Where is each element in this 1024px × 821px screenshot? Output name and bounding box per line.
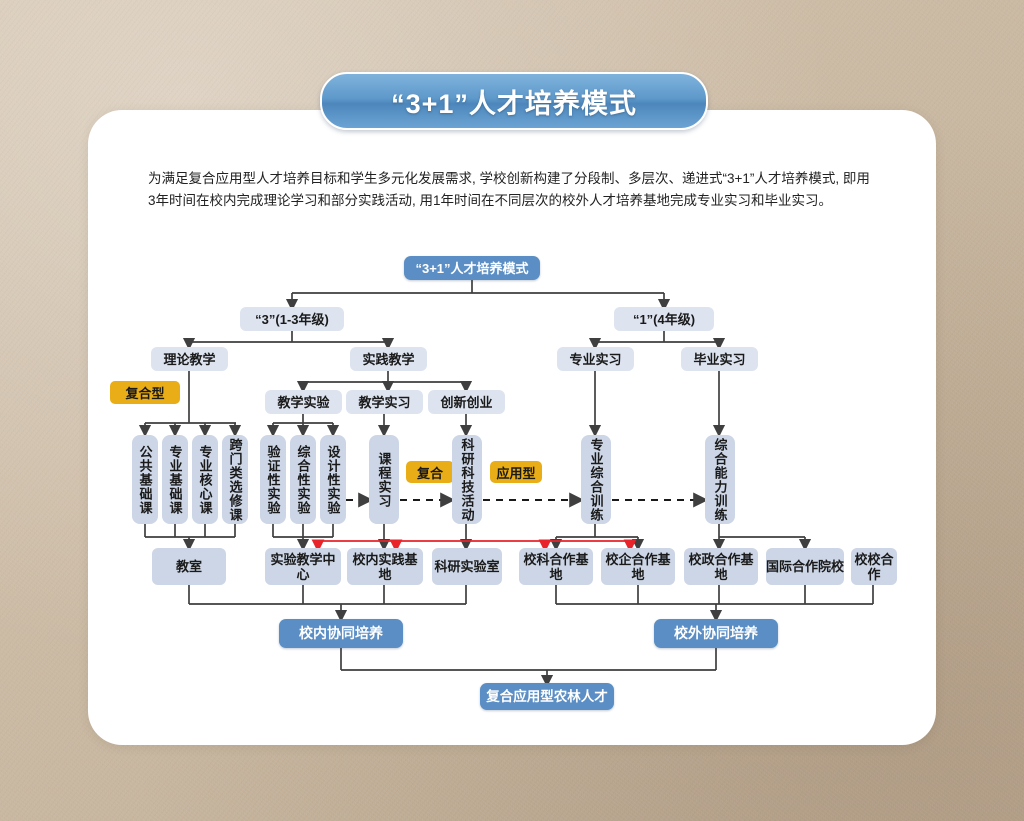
node-venue-classroom-label: 教室 <box>176 559 202 574</box>
node-column-major-comprehensive-training-label: 专业综合训练 <box>588 438 605 522</box>
node-venue-research-lab[interactable]: 科研实验室 <box>432 548 502 585</box>
node-column-verification-experiment-label: 验证性实验 <box>265 445 282 515</box>
node-venue-school-government-base-label: 校政合作基地 <box>684 552 758 582</box>
node-teaching-practicum-label: 教学实习 <box>358 395 410 410</box>
node-summary-external-label: 校外协同培养 <box>674 626 758 641</box>
node-practice-teaching[interactable]: 实践教学 <box>350 347 427 371</box>
node-venue-classroom[interactable]: 教室 <box>152 548 226 585</box>
badge-composite-type-label: 复合型 <box>125 383 164 402</box>
node-venue-international-institutions-label: 国际合作院校 <box>766 559 844 574</box>
node-column-course-practicum[interactable]: 课程实习 <box>369 435 399 524</box>
node-column-major-core[interactable]: 专业核心课 <box>192 435 218 524</box>
node-venue-school-school-cooperation[interactable]: 校校合作 <box>851 548 897 585</box>
node-column-comprehensive-experiment-label: 综合性实验 <box>295 445 312 515</box>
node-venue-school-school-cooperation-label: 校校合作 <box>851 552 897 582</box>
node-venue-school-enterprise-base-label: 校企合作基地 <box>601 552 675 582</box>
node-column-comprehensive-experiment[interactable]: 综合性实验 <box>290 435 316 524</box>
node-venue-school-government-base[interactable]: 校政合作基地 <box>684 548 758 585</box>
node-theory-teaching[interactable]: 理论教学 <box>151 347 228 371</box>
node-phase-3-label: “3”(1-3年级) <box>255 312 329 327</box>
node-graduation-internship[interactable]: 毕业实习 <box>681 347 758 371</box>
node-column-ability-training-label: 综合能力训练 <box>712 438 729 522</box>
node-root-label: “3+1”人才培养模式 <box>415 261 528 276</box>
node-venue-campus-practice-base[interactable]: 校内实践基地 <box>347 548 423 585</box>
node-graduation-internship-label: 毕业实习 <box>693 352 745 367</box>
node-major-internship-label: 专业实习 <box>569 352 621 367</box>
node-column-major-basic[interactable]: 专业基础课 <box>162 435 188 524</box>
node-root[interactable]: “3+1”人才培养模式 <box>404 256 540 280</box>
node-column-research-activity[interactable]: 科研科技活动 <box>452 435 482 524</box>
node-column-design-experiment-label: 设计性实验 <box>325 445 342 515</box>
node-outcome-label: 复合应用型农林人才 <box>486 689 608 704</box>
node-column-major-comprehensive-training[interactable]: 专业综合训练 <box>581 435 611 524</box>
node-major-internship[interactable]: 专业实习 <box>557 347 634 371</box>
node-practice-teaching-label: 实践教学 <box>362 352 414 367</box>
node-column-cross-elective-label: 跨门类选修课 <box>227 438 244 522</box>
node-column-major-basic-label: 专业基础课 <box>167 445 184 515</box>
node-column-cross-elective[interactable]: 跨门类选修课 <box>222 435 248 524</box>
node-venue-research-lab-label: 科研实验室 <box>434 559 499 574</box>
node-column-design-experiment[interactable]: 设计性实验 <box>320 435 346 524</box>
badge-applied-type: 应用型 <box>490 461 542 483</box>
node-outcome[interactable]: 复合应用型农林人才 <box>480 683 614 710</box>
node-phase-1[interactable]: “1”(4年级) <box>614 307 714 331</box>
node-summary-external[interactable]: 校外协同培养 <box>654 619 778 648</box>
node-column-major-core-label: 专业核心课 <box>197 445 214 515</box>
node-theory-teaching-label: 理论教学 <box>163 352 215 367</box>
badge-applied-type-label: 应用型 <box>496 463 535 482</box>
node-teaching-experiment-label: 教学实验 <box>277 395 329 410</box>
node-column-course-practicum-label: 课程实习 <box>376 452 393 508</box>
node-venue-school-research-base-label: 校科合作基地 <box>519 552 593 582</box>
node-column-public-basic-label: 公共基础课 <box>137 445 154 515</box>
node-column-ability-training[interactable]: 综合能力训练 <box>705 435 735 524</box>
badge-composite-type: 复合型 <box>110 381 180 404</box>
node-teaching-experiment[interactable]: 教学实验 <box>265 390 342 414</box>
node-column-verification-experiment[interactable]: 验证性实验 <box>260 435 286 524</box>
node-venue-school-research-base[interactable]: 校科合作基地 <box>519 548 593 585</box>
badge-composite: 复合 <box>406 461 454 483</box>
diagram-stage: “3+1”人才培养模式 “3”(1-3年级) “1”(4年级) 理论教学 实践教… <box>0 0 1024 821</box>
node-teaching-practicum[interactable]: 教学实习 <box>346 390 423 414</box>
node-column-research-activity-label: 科研科技活动 <box>459 438 476 522</box>
node-innovation-entrepreneurship[interactable]: 创新创业 <box>428 390 505 414</box>
node-innovation-entrepreneurship-label: 创新创业 <box>440 395 492 410</box>
node-column-public-basic[interactable]: 公共基础课 <box>132 435 158 524</box>
node-phase-1-label: “1”(4年级) <box>633 312 695 327</box>
node-summary-internal[interactable]: 校内协同培养 <box>279 619 403 648</box>
node-phase-3[interactable]: “3”(1-3年级) <box>240 307 344 331</box>
node-venue-school-enterprise-base[interactable]: 校企合作基地 <box>601 548 675 585</box>
node-venue-campus-practice-base-label: 校内实践基地 <box>347 552 423 582</box>
node-summary-internal-label: 校内协同培养 <box>299 626 383 641</box>
node-venue-experiment-center-label: 实验教学中心 <box>265 552 341 582</box>
node-venue-experiment-center[interactable]: 实验教学中心 <box>265 548 341 585</box>
badge-composite-label: 复合 <box>417 463 443 482</box>
node-venue-international-institutions[interactable]: 国际合作院校 <box>766 548 844 585</box>
